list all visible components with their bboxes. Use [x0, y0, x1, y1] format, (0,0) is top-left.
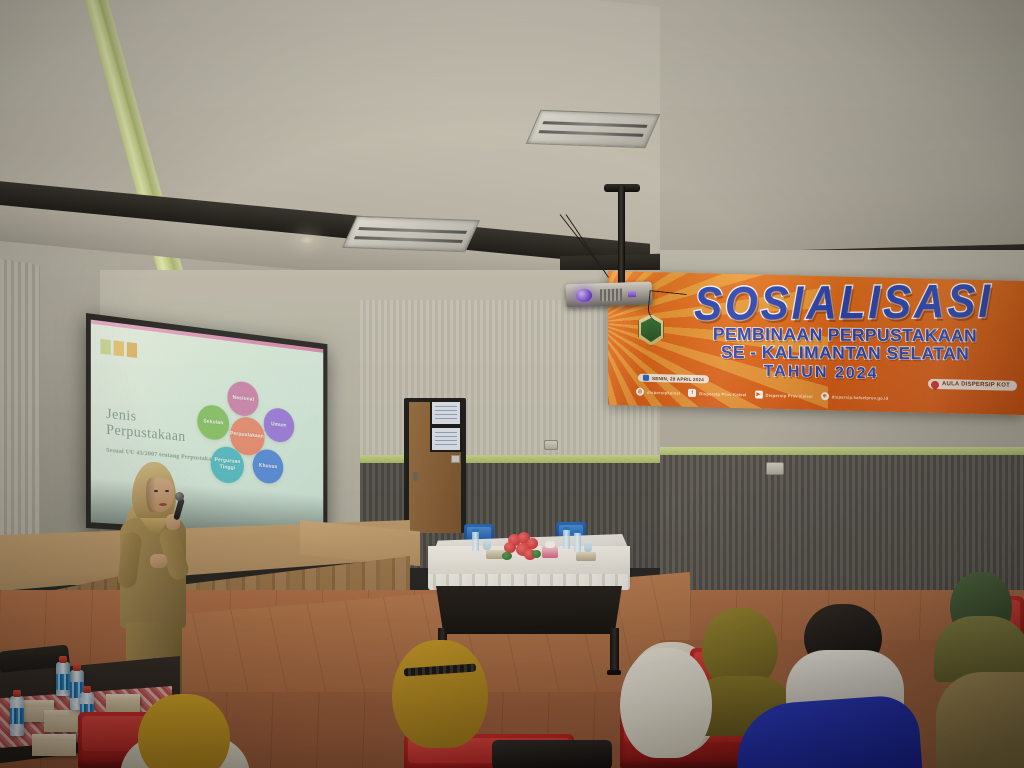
water-bottle [574, 530, 581, 552]
light-switch-icon[interactable] [451, 455, 460, 463]
snack-box [32, 734, 76, 756]
ac-vent-icon [526, 110, 661, 148]
banner-headline: SOSIALISASI [666, 274, 1021, 331]
drinking-glass [483, 539, 491, 550]
social-handle: dispersipkalsel [647, 389, 680, 395]
youtube-icon: ▶ [755, 390, 763, 398]
slide-color-swatches [100, 339, 137, 358]
head-table [424, 528, 634, 658]
banner-date-pill: SENIN, 29 APRIL 2024 [638, 374, 709, 384]
snack-box [106, 694, 140, 712]
social-youtube: ▶ Dispersip Prov Kalsel [755, 390, 813, 399]
attendee-shoulders [936, 672, 1024, 768]
social-handle: dispersip.kalselprov.go.id [832, 394, 889, 400]
slide-node-nasional: Nasional [228, 380, 259, 418]
power-outlet-icon [766, 462, 784, 475]
social-handle: Dispersip Prov Kalsel [699, 391, 746, 397]
social-facebook: f Dispersip Prov Kalsel [688, 389, 746, 398]
framed-certificate [430, 400, 462, 426]
snack-tray [576, 552, 596, 561]
table-leg [610, 628, 619, 672]
projector-indicator-icon [628, 291, 636, 297]
wall-left-ribbed-panel [0, 259, 40, 565]
projector-cables [646, 290, 686, 325]
ac-vent-icon [342, 216, 480, 253]
banner-venue-pill: AULA DISPERSIP KOT [928, 379, 1017, 391]
slide-node-umum: Umum [263, 407, 293, 444]
projector-lens-icon [576, 289, 592, 303]
location-pin-icon [929, 379, 940, 390]
social-website: ⊕ dispersip.kalselprov.go.id [821, 392, 889, 402]
globe-icon: ⊕ [821, 392, 829, 400]
ceiling-downlight-icon [300, 236, 314, 244]
flower-arrangement [502, 532, 542, 562]
ceiling-projector [566, 282, 653, 308]
projector-vent-icon [600, 289, 622, 302]
banner-date-text: SENIN, 29 APRIL 2024 [652, 375, 704, 381]
slide-node-khusus: Khusus [253, 448, 284, 485]
water-bottle [472, 529, 479, 551]
power-outlet-icon [544, 440, 558, 450]
table-foot [607, 670, 621, 675]
facebook-icon: f [688, 389, 696, 397]
water-bottle [10, 696, 24, 736]
presenter-hand-left [150, 554, 167, 568]
conference-room-photo: Jenis Perpustakaan Sesuai UU 43/2007 ten… [0, 0, 1024, 768]
calendar-icon [643, 375, 649, 381]
social-instagram: ◎ dispersipkalsel [636, 388, 680, 397]
banner-venue-text: AULA DISPERSIP KOT [942, 381, 1010, 389]
framed-certificate [430, 426, 462, 452]
projector-pole [618, 186, 625, 286]
microphone-head-icon [175, 492, 184, 501]
audience-chair-arm [492, 740, 612, 768]
attendee-hijab [138, 694, 230, 768]
water-bottle [56, 662, 70, 696]
social-handle: Dispersip Prov Kalsel [766, 392, 813, 398]
attendee-hijab [620, 648, 712, 758]
drinking-glass [584, 541, 592, 552]
instagram-icon: ◎ [636, 388, 644, 396]
table-body [436, 586, 622, 634]
tissue-puff [545, 541, 555, 548]
door-knob-icon[interactable] [413, 472, 418, 481]
water-bottle [563, 527, 570, 549]
attendee-hijab [392, 640, 488, 748]
